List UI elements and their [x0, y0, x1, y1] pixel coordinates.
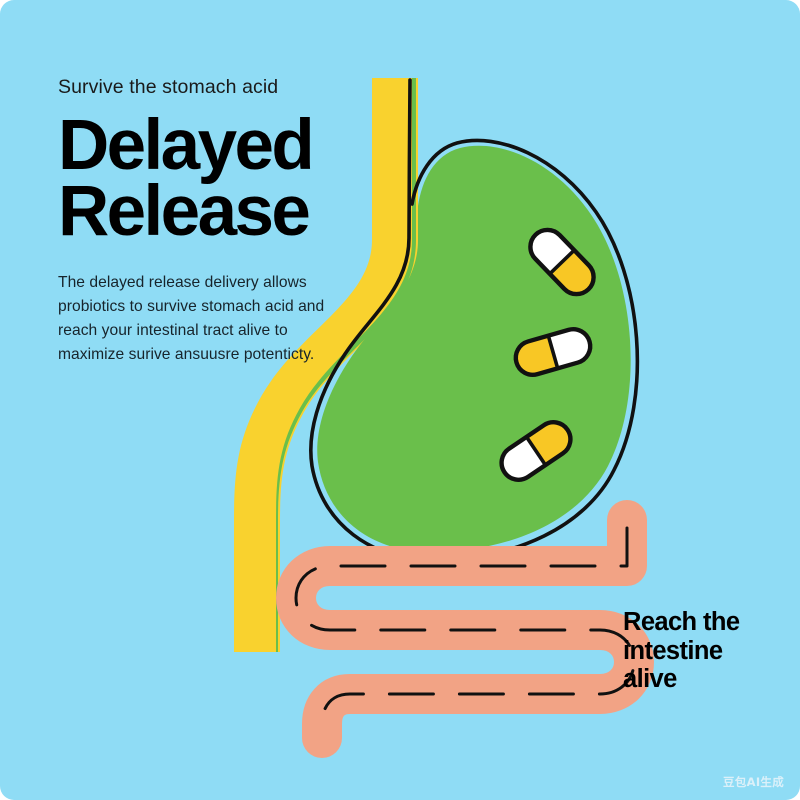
page-title: Delayed Release [58, 113, 378, 244]
body-line-1: The delayed release delivery allows [58, 271, 358, 295]
headline-line-1: Delayed [58, 113, 378, 178]
body-paragraph: The delayed release delivery allows prob… [58, 271, 358, 368]
body-line-2: probiotics to survive stomach acid and [58, 295, 358, 319]
callout-line-1: Reach the [623, 608, 739, 637]
headline-text-block: Survive the stomach acid Delayed Release… [58, 76, 378, 368]
body-line-4: maximize surive ansuusre potenticty. [58, 343, 358, 367]
callout-line-3: alive [623, 665, 739, 694]
headline-line-2: Release [58, 179, 378, 244]
infographic-poster: Survive the stomach acid Delayed Release… [0, 0, 800, 800]
eyebrow-text: Survive the stomach acid [58, 76, 378, 99]
intestine-callout: Reach the intestine alive [623, 608, 739, 694]
body-line-3: reach your intestinal tract alive to [58, 319, 358, 343]
ai-watermark: 豆包AI生成 [723, 774, 784, 790]
callout-line-2: intestine [623, 637, 739, 666]
